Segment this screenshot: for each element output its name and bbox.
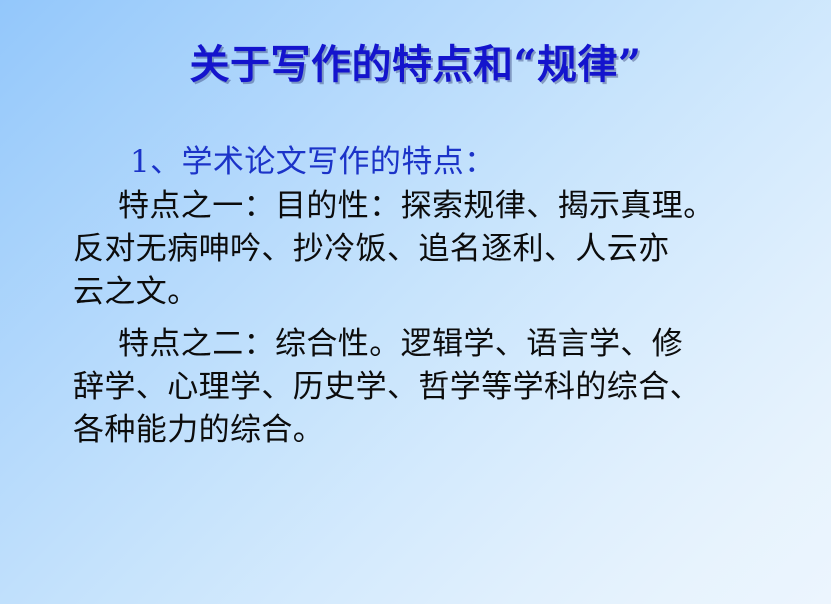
body-line: 辞学、心理学、历史学、哲学等学科的综合、 xyxy=(73,366,773,409)
body-line: 云之文。 xyxy=(73,271,773,314)
page-title: 关于写作的特点和“规律” xyxy=(0,40,831,90)
section-heading-1: 1、学术论文写作的特点： xyxy=(73,139,773,185)
body-line: 特点之一：目的性：探索规律、揭示真理。 xyxy=(73,185,773,228)
paragraph-spacer xyxy=(73,314,773,323)
body-line: 反对无病呻吟、抄冷饭、追名逐利、人云亦 xyxy=(73,228,773,271)
body-line: 各种能力的综合。 xyxy=(73,409,773,452)
paragraph-feature-one: 特点之一：目的性：探索规律、揭示真理。 反对无病呻吟、抄冷饭、追名逐利、人云亦 … xyxy=(73,185,773,314)
paragraph-feature-two: 特点之二：综合性。逻辑学、语言学、修 辞学、心理学、历史学、哲学等学科的综合、 … xyxy=(73,323,773,452)
body-line: 特点之二：综合性。逻辑学、语言学、修 xyxy=(73,323,773,366)
slide-body: 1、学术论文写作的特点： 特点之一：目的性：探索规律、揭示真理。 反对无病呻吟、… xyxy=(73,139,773,452)
slide-canvas: 关于写作的特点和“规律” 1、学术论文写作的特点： 特点之一：目的性：探索规律、… xyxy=(0,0,831,604)
